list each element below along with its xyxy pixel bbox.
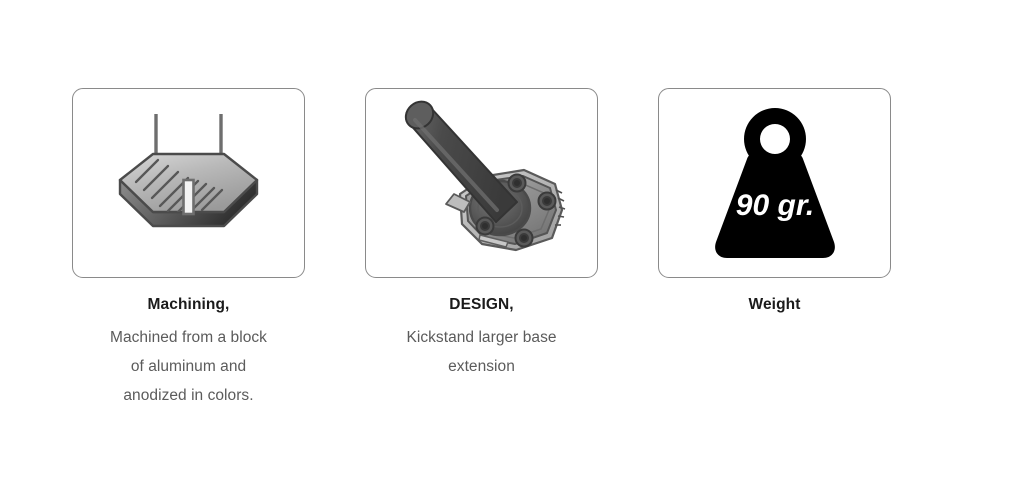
feature-grid: Machining, Machined from a block of alum…: [0, 0, 1024, 490]
weight-icon: 90 gr.: [700, 102, 850, 264]
weight-icon-label: 90 gr.: [735, 189, 813, 222]
caption-weight: Weight: [658, 295, 891, 315]
feature-body-line: Machined from a block: [72, 323, 305, 352]
feature-body-line: of aluminum and: [72, 352, 305, 381]
caption-design: DESIGN, Kickstand larger base extension: [365, 295, 598, 381]
feature-body-line: anodized in colors.: [72, 381, 305, 410]
feature-title: Weight: [658, 295, 891, 315]
feature-body-line: Kickstand larger base: [365, 323, 598, 352]
feature-title: Machining,: [72, 295, 305, 315]
feature-body: Machined from a block of aluminum and an…: [72, 323, 305, 410]
icon-card-weight: 90 gr.: [658, 88, 891, 278]
icon-card-design: [365, 88, 598, 278]
kickstand-base-extension-icon: [384, 98, 579, 268]
feature-item-design: DESIGN, Kickstand larger base extension: [365, 88, 598, 381]
icon-card-machining: [72, 88, 305, 278]
feature-body: Kickstand larger base extension: [365, 323, 598, 381]
caption-machining: Machining, Machined from a block of alum…: [72, 295, 305, 410]
feature-body-line: extension: [365, 352, 598, 381]
feature-item-weight: 90 gr. Weight: [658, 88, 891, 315]
cnc-machining-icon: [106, 108, 271, 258]
feature-title: DESIGN,: [365, 295, 598, 315]
feature-item-machining: Machining, Machined from a block of alum…: [72, 88, 305, 410]
